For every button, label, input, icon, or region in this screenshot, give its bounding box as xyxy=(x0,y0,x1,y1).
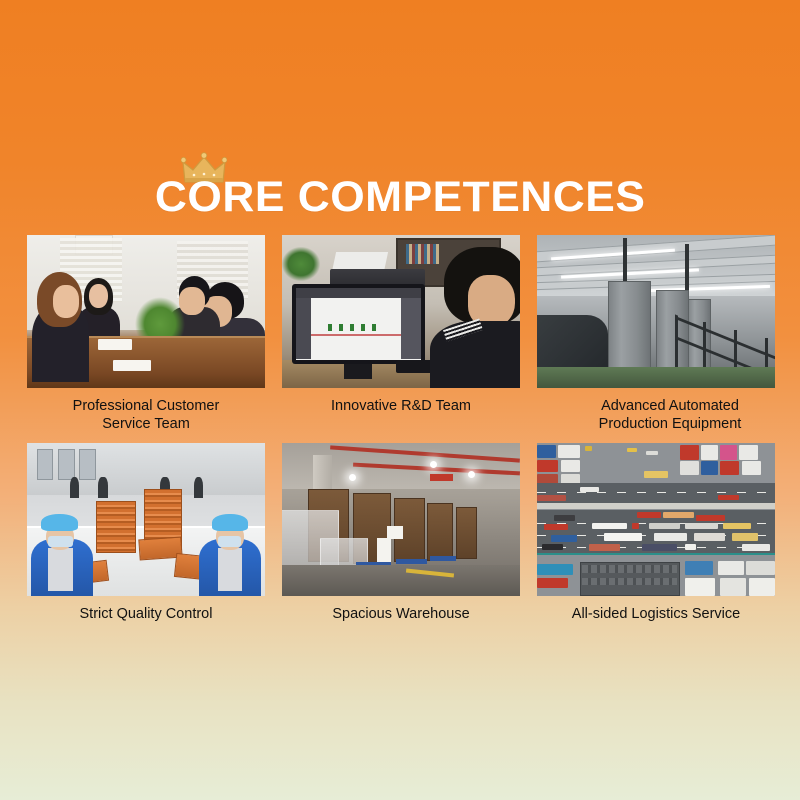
photo-quality-control-workers xyxy=(27,443,265,596)
competence-card-all-sided-logistics-service[interactable]: All-sided Logistics Service xyxy=(537,443,775,633)
title-block: CORE COMPETENCES xyxy=(0,152,800,222)
competences-grid: Professional Customer Service Team xyxy=(27,235,773,633)
competence-card-innovative-rd-team[interactable]: Innovative R&D Team xyxy=(282,235,520,443)
caption-professional-customer-service-team: Professional Customer Service Team xyxy=(27,388,265,443)
photo-rd-designer xyxy=(282,235,520,388)
photo-warehouse-pallets xyxy=(282,443,520,596)
caption-strict-quality-control: Strict Quality Control xyxy=(27,596,265,633)
competence-card-spacious-warehouse[interactable]: Spacious Warehouse xyxy=(282,443,520,633)
caption-all-sided-logistics-service: All-sided Logistics Service xyxy=(537,596,775,633)
photo-customer-service-meeting xyxy=(27,235,265,388)
caption-advanced-automated-production-equipment: Advanced Automated Production Equipment xyxy=(537,388,775,443)
core-competences-banner: CORE COMPETENCES Professional C xyxy=(0,0,800,800)
caption-innovative-rd-team: Innovative R&D Team xyxy=(282,388,520,425)
caption-spacious-warehouse: Spacious Warehouse xyxy=(282,596,520,633)
photo-printing-press-line xyxy=(537,235,775,388)
photo-aerial-logistics-port xyxy=(537,443,775,596)
competence-card-professional-customer-service-team[interactable]: Professional Customer Service Team xyxy=(27,235,265,443)
competence-card-advanced-automated-production-equipment[interactable]: Advanced Automated Production Equipment xyxy=(537,235,775,443)
page-title: CORE COMPETENCES xyxy=(155,172,646,222)
competence-card-strict-quality-control[interactable]: Strict Quality Control xyxy=(27,443,265,633)
